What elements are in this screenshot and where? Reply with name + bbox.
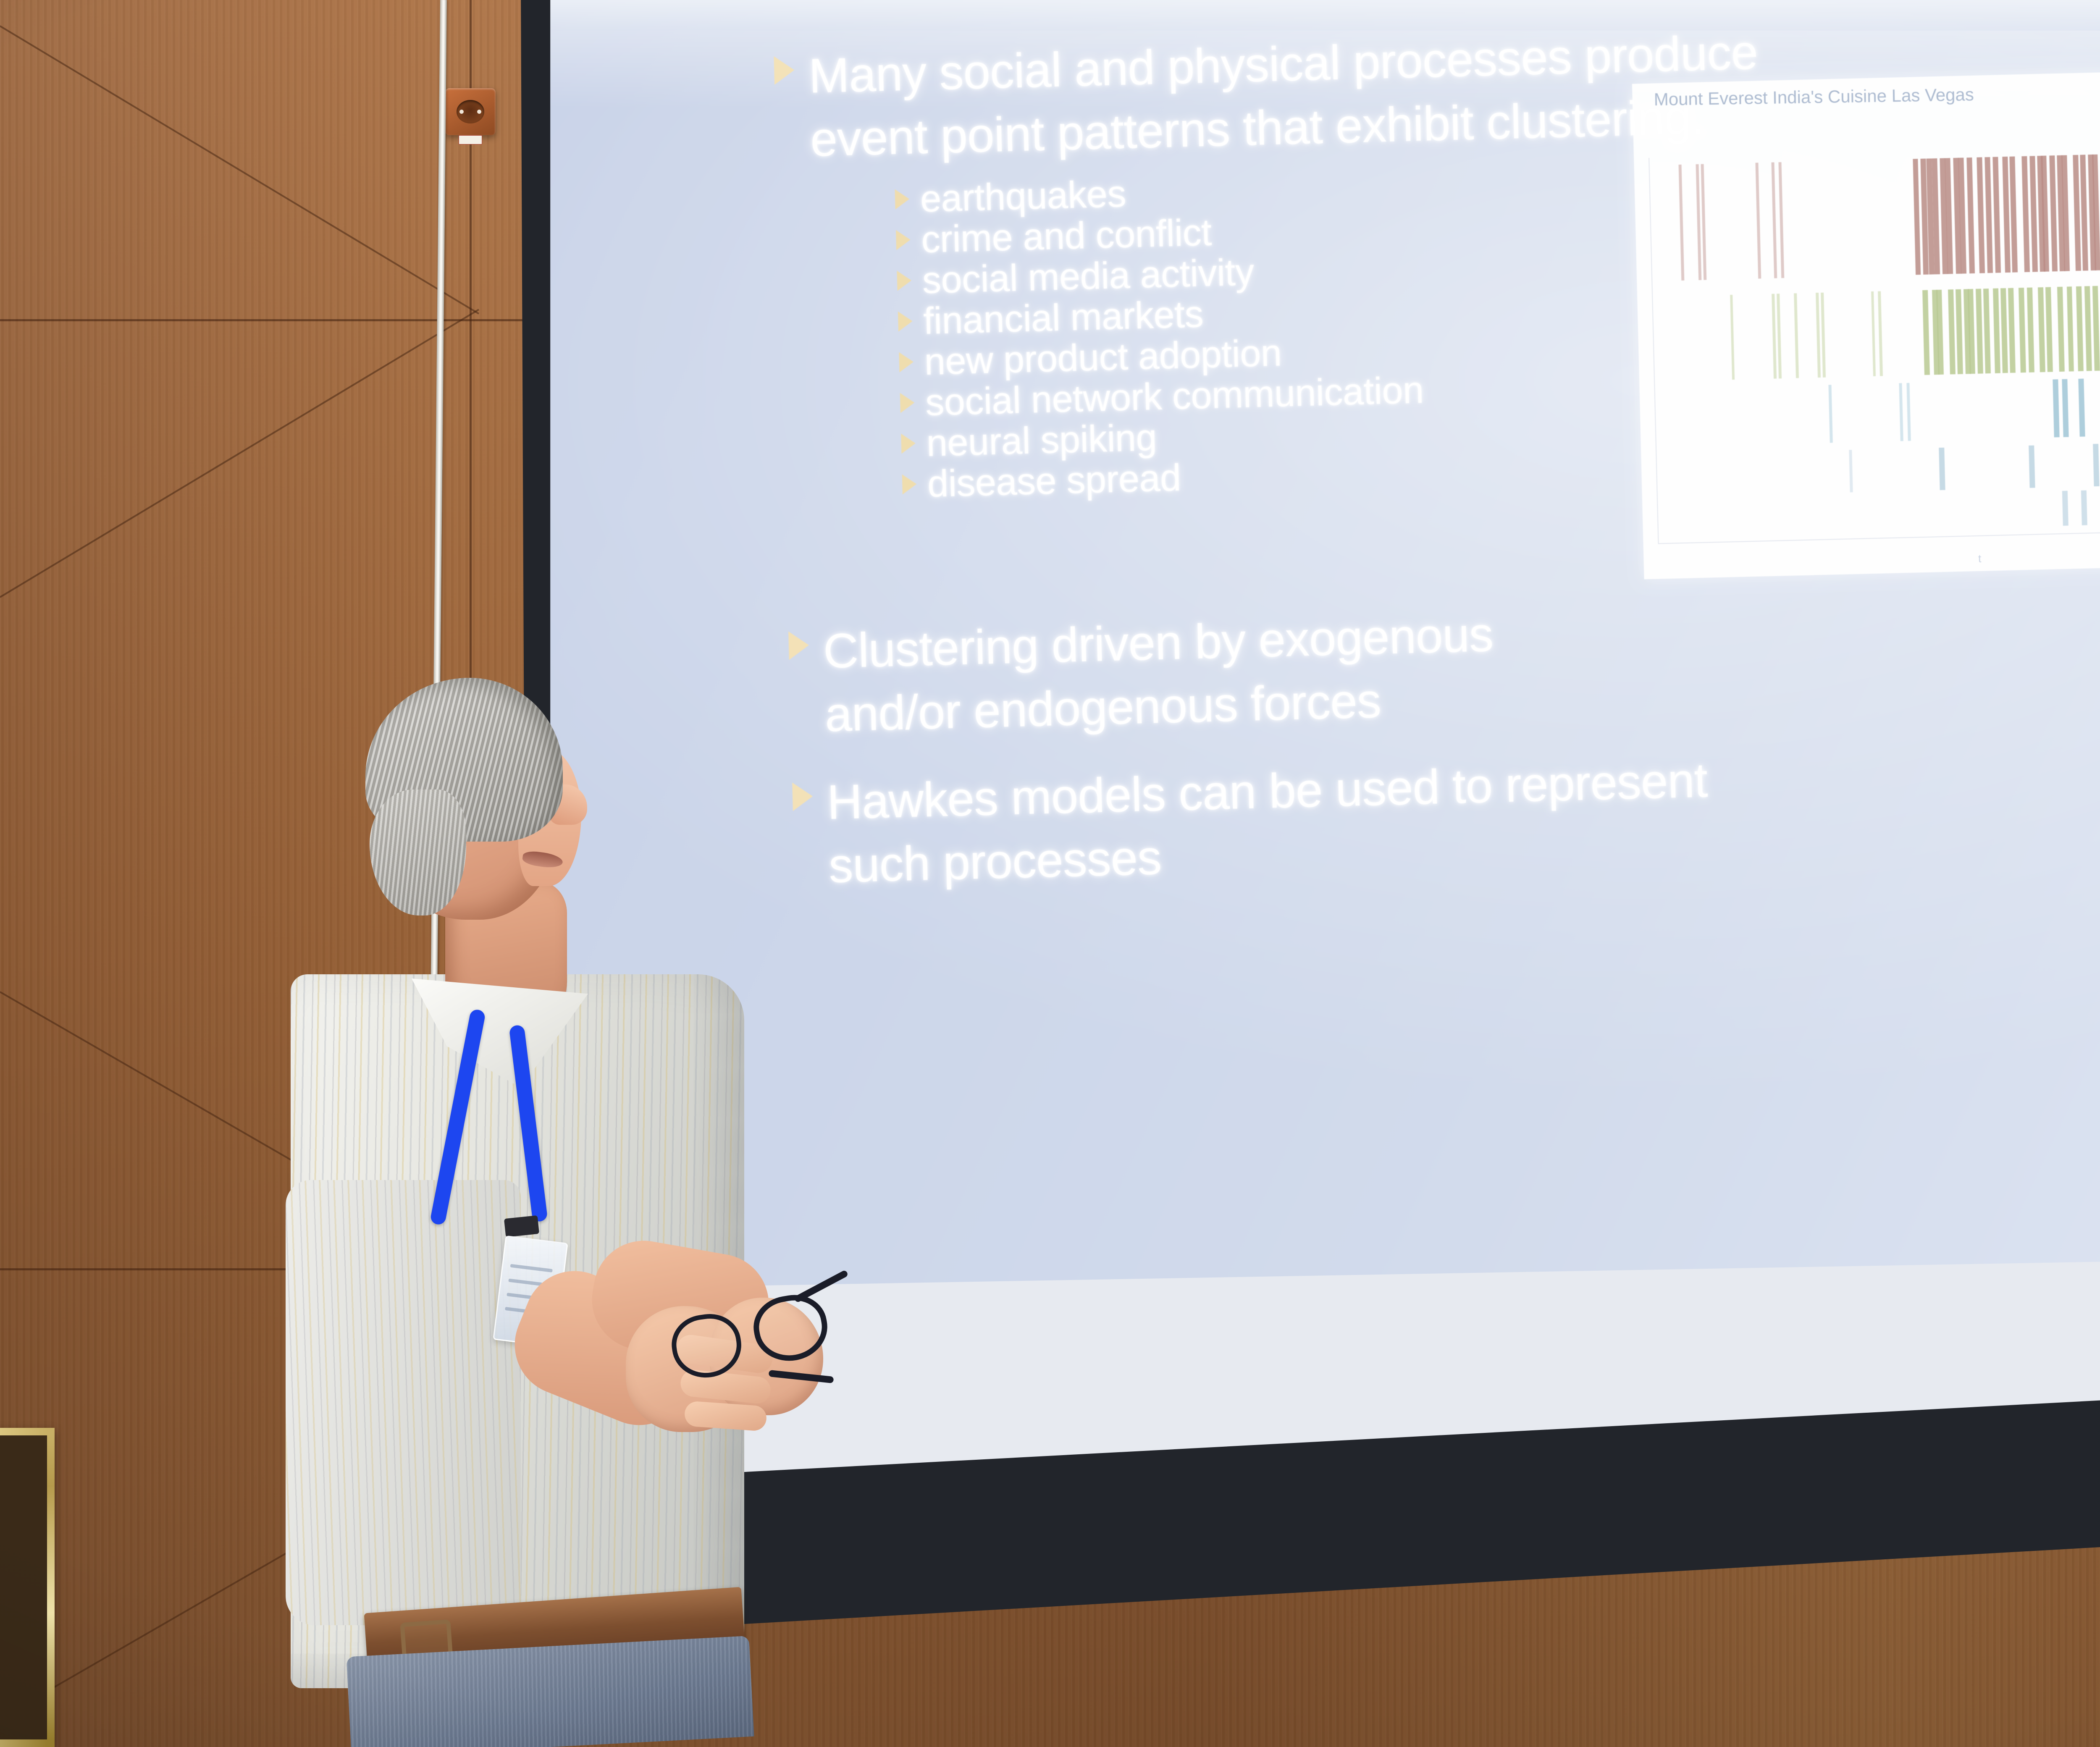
event-tick [1794, 293, 1799, 378]
event-tick [2084, 286, 2092, 371]
event-tick [2049, 156, 2058, 272]
event-tick [1922, 290, 1930, 375]
sub-bullet-text: financial markets [923, 295, 1204, 340]
sub-bullet-text: disease spread [927, 459, 1181, 503]
event-tick [2081, 491, 2087, 525]
bullet-triangle-icon [895, 189, 909, 210]
sub-bullet-text: social media activity [922, 253, 1255, 299]
presenter [340, 685, 886, 1747]
event-tick [1878, 291, 1883, 376]
event-tick [1984, 157, 1993, 273]
raster-row [1655, 373, 2100, 447]
bullet-triangle-icon [774, 56, 795, 85]
bullet-triangle-icon [898, 311, 913, 332]
event-tick [1821, 292, 1826, 377]
lanyard-clip [504, 1215, 539, 1237]
bullet-triangle-icon [896, 230, 911, 250]
presenter-hair-side [370, 790, 466, 915]
event-tick [2029, 446, 2035, 488]
event-tick [1939, 448, 1945, 490]
event-tick [1849, 450, 1853, 492]
bullet-text: Many social and physical processes produ… [808, 21, 1760, 171]
raster-row [1653, 281, 2100, 381]
eyeglasses-temple [793, 1270, 848, 1303]
raster-row [1650, 150, 2100, 281]
event-tick [2003, 157, 2011, 273]
event-tick [2080, 155, 2088, 271]
presenter-sleeve [286, 1180, 521, 1625]
slide-bullet: Hawkes models can be used to represent s… [792, 739, 2097, 898]
event-tick [2093, 444, 2099, 486]
bullet-triangle-icon [902, 474, 917, 495]
event-tick [1913, 159, 1921, 275]
bullet-text: Clustering driven by exogenous and/or en… [822, 603, 1495, 746]
raster-row [1657, 439, 2100, 497]
event-tick [1899, 383, 1903, 441]
event-tick [1977, 157, 1985, 273]
event-tick [1772, 294, 1777, 378]
event-tick [1976, 289, 1983, 373]
event-tick [2053, 379, 2060, 437]
event-tick [2066, 286, 2074, 371]
presentation-room-photo: Many social and physical processes produ… [0, 0, 2100, 1747]
bullet-triangle-icon [897, 270, 911, 291]
slide-bullet: Clustering driven by exogenous and/or en… [788, 592, 1925, 747]
sub-bullet-text: earthquakes [920, 175, 1126, 218]
event-tick [1730, 295, 1735, 380]
event-tick [1948, 289, 1956, 374]
event-tick [2019, 288, 2026, 372]
event-tick [1828, 385, 1832, 443]
event-tick [2008, 288, 2016, 372]
event-tick [1993, 288, 2000, 373]
figure-xlabel: t [1978, 552, 1982, 565]
gold-picture-frame [0, 1428, 55, 1747]
event-tick [1983, 289, 1991, 373]
event-tick [1906, 383, 1911, 441]
power-outlet-icon [445, 88, 496, 135]
figure-axes [1648, 142, 2100, 544]
event-tick [1772, 163, 1777, 278]
event-tick [1816, 293, 1821, 378]
bullet-triangle-icon [788, 631, 809, 660]
event-tick [1678, 165, 1684, 281]
event-tick [1956, 289, 1963, 374]
event-tick [1779, 162, 1785, 278]
event-tick [2045, 287, 2053, 372]
event-tick [2022, 156, 2030, 272]
event-tick [1701, 164, 1707, 280]
event-tick [2073, 155, 2082, 271]
raster-plot-figure: Mount Everest India's Cuisine Las Vegas … [1632, 68, 2100, 580]
sub-bullet-text: crime and conflict [921, 214, 1212, 259]
event-tick [2038, 287, 2045, 372]
bullet-text: Hawkes models can be used to represent s… [826, 748, 1709, 897]
event-tick [1993, 157, 2001, 273]
event-tick [2062, 379, 2068, 437]
event-tick [2029, 156, 2038, 272]
event-tick [2010, 157, 2018, 273]
event-tick [2000, 288, 2008, 373]
event-tick [1966, 157, 1975, 273]
bullet-triangle-icon [901, 433, 916, 454]
sub-bullet-text: neural spiking [926, 419, 1157, 462]
event-tick [1756, 163, 1761, 279]
event-tick [2057, 286, 2065, 371]
event-tick [2076, 286, 2084, 371]
event-tick [2079, 379, 2085, 437]
figure-title: Mount Everest India's Cuisine Las Vegas [1654, 84, 1974, 110]
bullet-triangle-icon [900, 393, 915, 413]
event-tick [1696, 164, 1702, 280]
bullet-triangle-icon [899, 352, 913, 372]
event-tick [2027, 287, 2034, 372]
event-tick [2092, 286, 2100, 370]
event-tick [1871, 291, 1876, 376]
event-tick [1777, 294, 1782, 378]
event-tick [2062, 491, 2068, 526]
